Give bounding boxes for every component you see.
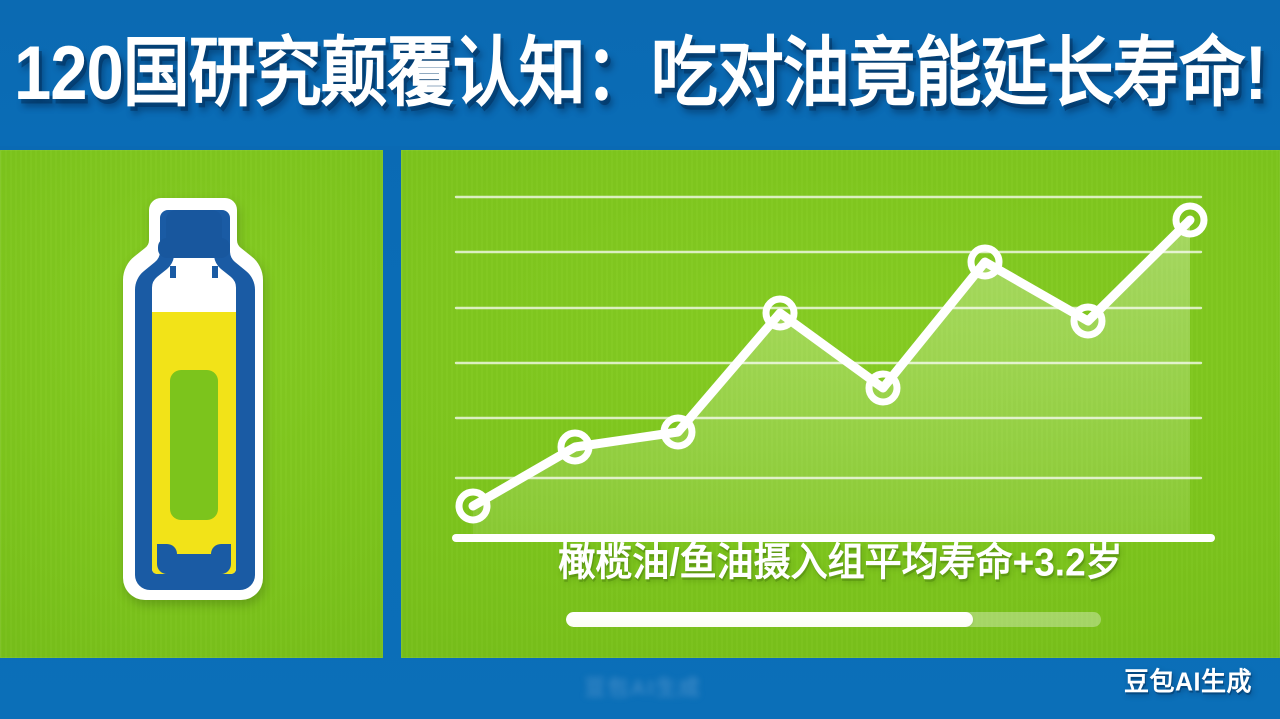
chart-area-fill xyxy=(473,220,1190,538)
oil-bottle-icon xyxy=(108,192,280,612)
brand-watermark: 豆包AI生成 xyxy=(1124,661,1252,699)
progress-bar-track[interactable] xyxy=(566,612,1101,627)
chart-caption: 橄榄油/鱼油摄入组平均寿命+3.2岁 xyxy=(401,543,1280,584)
header-banner: 120国研究颠覆认知：吃对油竟能延长寿命! xyxy=(0,0,1280,146)
oil-bottle-illustration xyxy=(108,192,280,612)
infographic-root: 120国研究颠覆认知：吃对油竟能延长寿命! xyxy=(0,0,1280,719)
chart-caption-text: 橄榄油/鱼油摄入组平均寿命+3.2岁 xyxy=(558,542,1122,585)
faint-watermark: 豆包AI生成 xyxy=(448,672,838,708)
page-title: 120国研究颠覆认知：吃对油竟能延长寿命! xyxy=(14,35,1266,111)
progress-bar-fill xyxy=(566,612,973,627)
